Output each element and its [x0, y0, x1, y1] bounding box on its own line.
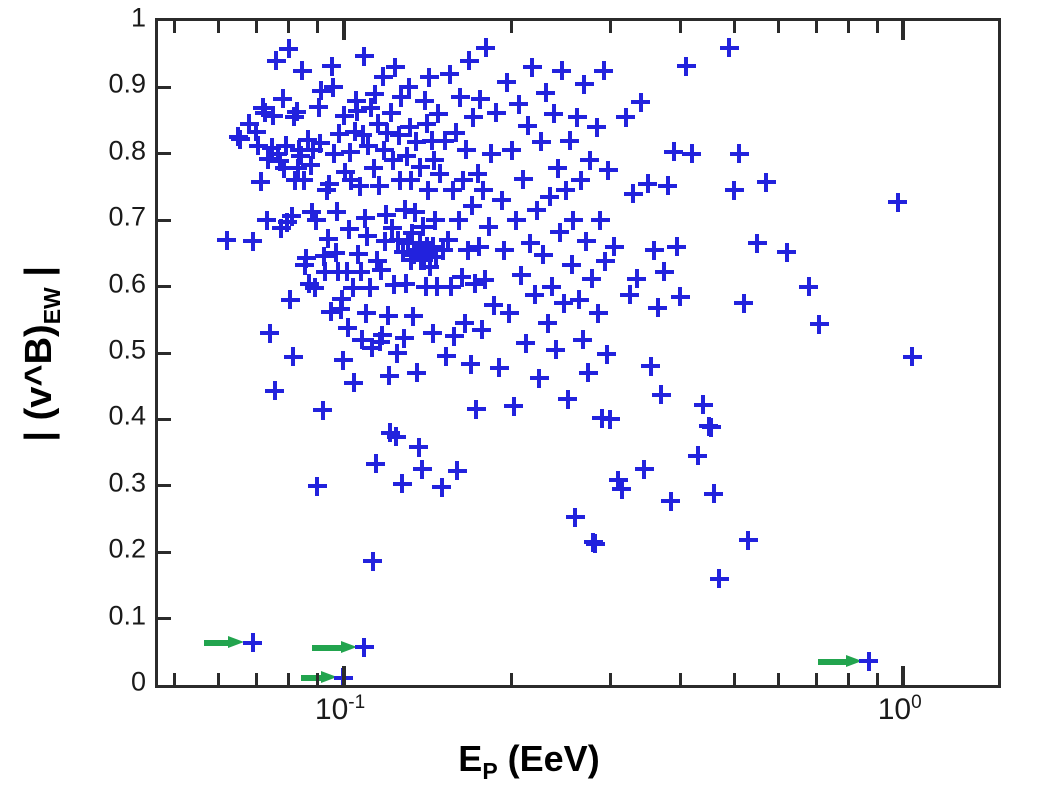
- data-point: [257, 211, 276, 230]
- data-point: [368, 251, 387, 270]
- data-point: [409, 438, 428, 457]
- data-point: [777, 243, 796, 262]
- data-point: [422, 131, 441, 150]
- data-point: [446, 123, 465, 142]
- x-axis-minor-tick: [777, 673, 780, 685]
- data-point: [243, 232, 262, 251]
- data-point: [548, 159, 567, 178]
- data-point: [612, 480, 631, 499]
- data-point: [560, 131, 579, 150]
- data-point: [282, 207, 301, 226]
- data-point: [317, 181, 336, 200]
- data-point: [527, 201, 546, 220]
- data-point: [341, 143, 360, 162]
- data-point: [725, 181, 744, 200]
- data-point: [397, 147, 416, 166]
- data-point: [286, 171, 305, 190]
- x-axis-tick-label: 100: [878, 692, 922, 727]
- data-point: [434, 241, 453, 260]
- data-point: [492, 191, 511, 210]
- data-point: [427, 277, 446, 296]
- upper-limit-arrow: [312, 641, 357, 654]
- data-point: [702, 418, 721, 437]
- data-point: [405, 245, 424, 264]
- data-point: [410, 234, 429, 253]
- data-point: [616, 108, 635, 127]
- data-point: [556, 181, 575, 200]
- data-point: [253, 98, 272, 117]
- data-point: [677, 57, 696, 76]
- data-point: [417, 114, 436, 133]
- data-point: [321, 302, 340, 321]
- scatter-plot-figure: 00.10.20.30.40.50.60.70.80.91 10-1100 EP…: [0, 0, 1058, 794]
- data-point: [443, 181, 462, 200]
- data-point: [648, 298, 667, 317]
- data-point: [297, 249, 316, 268]
- data-point: [591, 211, 610, 230]
- data-point: [454, 171, 473, 190]
- data-point: [495, 241, 514, 260]
- data-point: [324, 78, 343, 97]
- data-point: [402, 251, 421, 270]
- data-point: [343, 278, 362, 297]
- data-point: [458, 241, 477, 260]
- data-point: [300, 274, 319, 293]
- data-point: [534, 245, 553, 264]
- data-point: [667, 237, 686, 256]
- upper-limit-arrows-layer: [158, 21, 998, 685]
- data-point: [514, 170, 533, 189]
- data-point: [383, 219, 402, 238]
- x-axis-minor-tick: [847, 21, 850, 33]
- y-axis-title: | (v^B)EW |: [18, 24, 66, 684]
- data-point: [562, 255, 581, 274]
- y-axis-tick-label: 0.1: [108, 600, 146, 631]
- x-axis-minor-tick: [847, 673, 850, 685]
- data-point: [525, 285, 544, 304]
- upper-limit-point: [859, 652, 878, 671]
- x-axis-tick-label: 10-1: [315, 692, 365, 727]
- data-point: [278, 213, 297, 232]
- data-point: [580, 151, 599, 170]
- data-point: [378, 123, 397, 142]
- data-point: [259, 150, 278, 169]
- data-point: [730, 144, 749, 163]
- x-axis-minor-tick: [173, 21, 176, 33]
- data-point: [392, 88, 411, 107]
- data-point: [308, 477, 327, 496]
- data-point: [661, 492, 680, 511]
- data-point: [710, 569, 729, 588]
- data-point: [461, 355, 480, 374]
- data-point: [391, 171, 410, 190]
- data-point: [401, 171, 420, 190]
- data-point: [384, 151, 403, 170]
- data-point: [542, 277, 561, 296]
- data-point: [472, 320, 491, 339]
- x-axis-minor-tick: [510, 21, 513, 33]
- data-point: [403, 224, 422, 243]
- y-axis-tick-label: 0.8: [108, 135, 146, 166]
- data-point: [395, 200, 414, 219]
- data-point: [482, 144, 501, 163]
- upper-limit-arrow: [204, 636, 244, 649]
- x-axis-minor-tick: [815, 21, 818, 33]
- data-point: [359, 136, 378, 155]
- data-point: [399, 78, 418, 97]
- data-point: [388, 344, 407, 363]
- data-point: [307, 211, 326, 230]
- data-point: [387, 427, 406, 446]
- data-point: [268, 144, 287, 163]
- data-point: [575, 75, 594, 94]
- data-point: [350, 177, 369, 196]
- data-point: [471, 90, 490, 109]
- data-point: [262, 138, 281, 157]
- data-point: [400, 118, 419, 137]
- data-point: [247, 122, 266, 141]
- data-point: [265, 381, 284, 400]
- data-point: [627, 269, 646, 288]
- data-point: [437, 347, 456, 366]
- data-point: [376, 232, 395, 251]
- data-point: [419, 181, 438, 200]
- data-point: [586, 534, 605, 553]
- data-point: [748, 234, 767, 253]
- data-point: [420, 68, 439, 87]
- data-point: [260, 324, 279, 343]
- data-point: [312, 81, 331, 100]
- arrow-shaft: [818, 659, 847, 665]
- data-point: [293, 61, 312, 80]
- data-point: [344, 373, 363, 392]
- data-point: [497, 73, 516, 92]
- y-axis-tick: [158, 352, 171, 355]
- data-point: [379, 306, 398, 325]
- data-point: [429, 104, 448, 123]
- x-axis-minor-tick: [679, 21, 682, 33]
- data-point: [694, 395, 713, 414]
- y-axis-tick: [158, 418, 171, 421]
- data-point: [464, 108, 483, 127]
- data-point: [240, 114, 259, 133]
- data-point: [655, 262, 674, 281]
- data-point: [351, 262, 370, 281]
- data-point: [408, 241, 427, 260]
- arrow-head: [341, 641, 357, 653]
- data-point: [457, 140, 476, 159]
- data-point: [439, 231, 458, 250]
- data-point: [398, 234, 417, 253]
- x-axis-minor-tick: [777, 21, 780, 33]
- data-point: [302, 203, 321, 222]
- arrow-head: [228, 636, 244, 648]
- data-point: [609, 471, 628, 490]
- data-point: [249, 136, 268, 155]
- y-axis-tick-label: 0.3: [108, 467, 146, 498]
- data-point: [420, 257, 439, 276]
- data-point: [475, 270, 494, 289]
- x-axis-minor-tick: [173, 673, 176, 685]
- data-point: [301, 156, 320, 175]
- upper-limit-point: [355, 638, 374, 657]
- data-point: [304, 140, 323, 159]
- data-point: [664, 142, 683, 161]
- data-point: [394, 243, 413, 262]
- data-point: [291, 146, 310, 165]
- data-point: [421, 241, 440, 260]
- data-point: [426, 211, 445, 230]
- data-point: [467, 400, 486, 419]
- data-point: [500, 304, 519, 323]
- data-point: [518, 116, 537, 135]
- data-point: [546, 340, 565, 359]
- data-point: [631, 93, 650, 112]
- data-point: [536, 83, 555, 102]
- data-point: [338, 318, 357, 337]
- data-point: [381, 423, 400, 442]
- x-axis-major-tick: [342, 21, 346, 40]
- data-point: [577, 232, 596, 251]
- data-point: [592, 409, 611, 428]
- data-point: [538, 314, 557, 333]
- data-point: [584, 533, 603, 552]
- data-point: [347, 91, 366, 110]
- data-point: [460, 51, 479, 70]
- data-point: [385, 275, 404, 294]
- data-point: [582, 269, 601, 288]
- data-point: [540, 187, 559, 206]
- data-point: [364, 159, 383, 178]
- data-point: [217, 231, 236, 250]
- data-point: [448, 461, 467, 480]
- data-point: [463, 196, 482, 215]
- data-point: [412, 251, 431, 270]
- data-point: [523, 58, 542, 77]
- data-point: [390, 126, 409, 145]
- data-point: [589, 304, 608, 323]
- data-point: [276, 136, 295, 155]
- data-point: [330, 124, 349, 143]
- data-point: [375, 141, 394, 160]
- data-point: [309, 98, 328, 117]
- x-axis-minor-tick: [217, 673, 220, 685]
- y-axis-tick-label: 0.4: [108, 401, 146, 432]
- data-point: [445, 327, 464, 346]
- y-axis-tick: [158, 285, 171, 288]
- data-point: [340, 220, 359, 239]
- data-point: [406, 203, 425, 222]
- data-point: [414, 251, 433, 270]
- data-point: [558, 390, 577, 409]
- data-point: [587, 118, 606, 137]
- data-point: [267, 51, 286, 70]
- data-point: [451, 88, 470, 107]
- x-axis-minor-tick: [609, 21, 612, 33]
- data-point: [652, 385, 671, 404]
- data-point: [360, 278, 379, 297]
- data-point: [357, 304, 376, 323]
- data-point: [688, 446, 707, 465]
- data-point: [369, 114, 388, 133]
- x-axis-minor-tick: [733, 673, 736, 685]
- data-point: [465, 274, 484, 293]
- data-point: [342, 171, 361, 190]
- y-axis-tick: [158, 219, 171, 222]
- data-point: [287, 102, 306, 121]
- data-point: [377, 205, 396, 224]
- data-point: [470, 237, 489, 256]
- data-point: [418, 237, 437, 256]
- data-point: [645, 241, 664, 260]
- x-axis-minor-tick: [876, 21, 879, 33]
- x-axis-major-tick: [342, 666, 346, 685]
- data-point: [331, 300, 350, 319]
- data-point: [319, 229, 338, 248]
- data-point: [275, 159, 294, 178]
- y-axis-tick-label: 0.7: [108, 202, 146, 233]
- data-point: [435, 131, 454, 150]
- data-point: [355, 47, 374, 66]
- data-point: [571, 171, 590, 190]
- data-point: [638, 174, 657, 193]
- data-point: [348, 102, 367, 121]
- data-point: [382, 103, 401, 122]
- data-point: [255, 103, 274, 122]
- data-point: [530, 369, 549, 388]
- data-point: [641, 357, 660, 376]
- data-point: [370, 176, 389, 195]
- x-axis-title: EP (EeV): [0, 738, 1058, 785]
- data-point: [554, 294, 573, 313]
- data-points-layer: [158, 21, 998, 685]
- data-point: [231, 130, 250, 149]
- upper-limit-point: [243, 633, 262, 652]
- data-point: [316, 262, 335, 281]
- data-point: [373, 326, 392, 345]
- data-point: [395, 329, 414, 348]
- data-point: [516, 334, 535, 353]
- data-point: [365, 85, 384, 104]
- data-point: [320, 175, 339, 194]
- y-axis-tick: [158, 551, 171, 554]
- data-point: [484, 296, 503, 315]
- data-point: [479, 217, 498, 236]
- arrow-head: [321, 671, 337, 683]
- x-axis-minor-tick: [876, 673, 879, 685]
- data-point: [393, 474, 412, 493]
- data-point: [353, 125, 372, 144]
- data-point: [739, 531, 758, 550]
- data-point: [311, 134, 330, 153]
- data-point: [358, 227, 377, 246]
- data-point: [411, 158, 430, 177]
- data-point: [442, 277, 461, 296]
- data-point: [570, 290, 589, 309]
- data-point: [476, 38, 495, 57]
- data-point: [288, 159, 307, 178]
- data-point: [396, 274, 415, 293]
- x-axis-major-tick: [901, 666, 905, 685]
- data-point: [757, 173, 776, 192]
- data-point: [552, 61, 571, 80]
- data-point: [599, 161, 618, 180]
- y-axis-tick: [158, 152, 171, 155]
- data-point: [290, 140, 309, 159]
- data-point: [270, 152, 289, 171]
- data-point: [568, 108, 587, 127]
- y-axis-tick: [158, 86, 171, 89]
- data-point: [313, 401, 332, 420]
- x-axis-minor-tick: [316, 673, 319, 685]
- x-axis-minor-tick: [316, 21, 319, 33]
- plot-area: [155, 18, 1001, 688]
- data-point: [281, 290, 300, 309]
- x-axis-minor-tick: [255, 21, 258, 33]
- data-point: [349, 245, 368, 264]
- data-point: [325, 144, 344, 163]
- data-point: [452, 268, 471, 287]
- data-point: [251, 172, 270, 191]
- data-point: [407, 363, 426, 382]
- y-axis-tick: [158, 617, 171, 620]
- data-point: [413, 460, 432, 479]
- data-point: [294, 171, 313, 190]
- data-point: [550, 223, 569, 242]
- data-point: [810, 315, 829, 334]
- data-point: [332, 290, 351, 309]
- data-point: [424, 237, 443, 256]
- data-point: [440, 65, 459, 84]
- x-axis-minor-tick: [255, 673, 258, 685]
- data-point: [620, 285, 639, 304]
- data-point: [682, 144, 701, 163]
- data-point: [566, 508, 585, 527]
- data-point: [799, 277, 818, 296]
- data-point: [335, 106, 354, 125]
- data-point: [449, 211, 468, 230]
- x-axis-minor-tick: [287, 21, 290, 33]
- data-point: [366, 454, 385, 473]
- y-axis-tick-label: 1: [131, 3, 146, 34]
- x-axis-minor-tick: [287, 673, 290, 685]
- data-point: [273, 89, 292, 108]
- data-point: [888, 193, 907, 212]
- data-point: [322, 57, 341, 76]
- data-point: [416, 277, 435, 296]
- data-point: [345, 122, 364, 141]
- data-point: [597, 345, 616, 364]
- data-point: [720, 38, 739, 57]
- data-point: [329, 262, 348, 281]
- data-point: [425, 151, 444, 170]
- data-point: [624, 184, 643, 203]
- data-point: [658, 176, 677, 195]
- x-axis-major-tick: [901, 21, 905, 40]
- y-axis-tick-label: 0.2: [108, 534, 146, 565]
- upper-limit-arrow: [818, 655, 862, 668]
- data-point: [468, 164, 487, 183]
- data-point: [279, 39, 298, 58]
- data-point: [362, 338, 381, 357]
- data-point: [337, 262, 356, 281]
- data-point: [573, 330, 592, 349]
- data-point: [326, 243, 345, 262]
- x-axis-tick-labels: 10-1100: [155, 692, 1001, 744]
- y-axis-tick: [158, 484, 171, 487]
- data-point: [512, 266, 531, 285]
- data-point: [229, 127, 248, 146]
